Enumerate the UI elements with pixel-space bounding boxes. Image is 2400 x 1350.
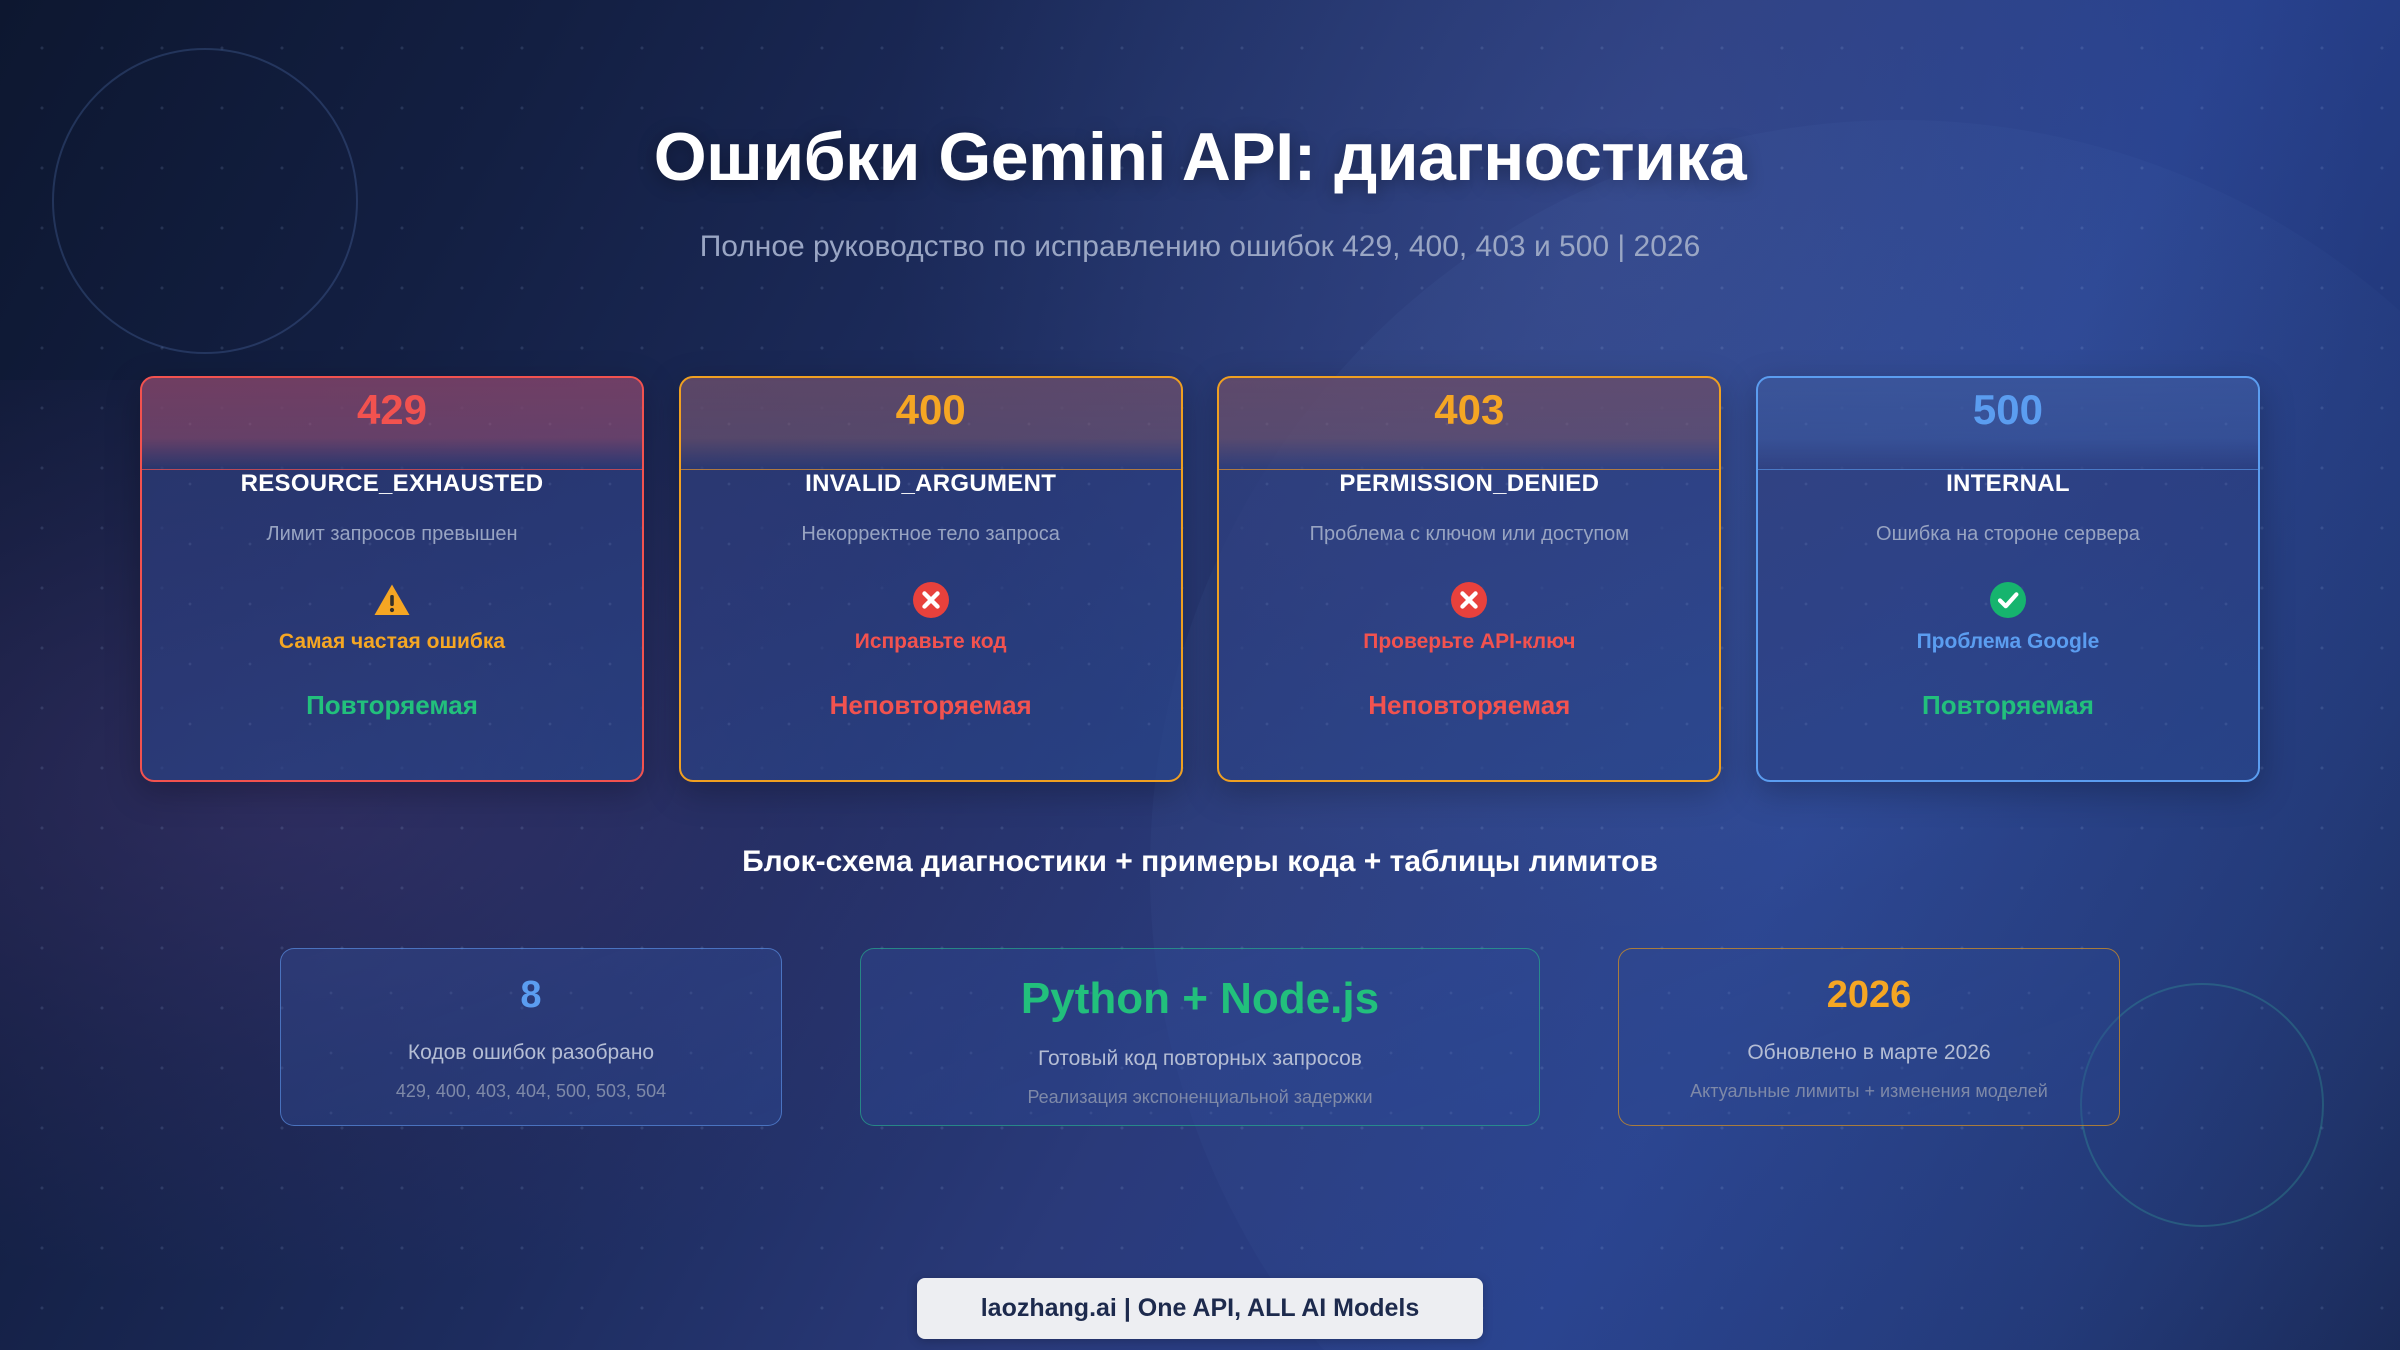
error-code: 500 [1973,389,2043,431]
error-retryable: Повторяемая [1758,690,2258,721]
stat-box-row: 8 Кодов ошибок разобрано 429, 400, 403, … [280,948,2120,1126]
error-hint: Самая частая ошибка [142,630,642,654]
stat-box-languages[interactable]: Python + Node.js Готовый код повторных з… [860,948,1540,1126]
error-code: 403 [1434,389,1504,431]
error-code: 400 [896,389,966,431]
stat-box-updated[interactable]: 2026 Обновлено в марте 2026 Актуальные л… [1618,948,2120,1126]
stat-label: Готовый код повторных запросов [861,1047,1539,1071]
tagline: Блок-схема диагностики + примеры кода + … [0,845,2400,879]
warning-triangle-icon [142,580,642,620]
stat-box-error-codes[interactable]: 8 Кодов ошибок разобрано 429, 400, 403, … [280,948,782,1126]
error-description: Лимит запросов превышен [142,523,642,546]
error-card-500[interactable]: 500 INTERNAL Ошибка на стороне сервера П… [1756,376,2260,782]
error-x-circle-icon [1219,580,1719,620]
page-subtitle: Полное руководство по исправлению ошибок… [0,230,2400,264]
error-description: Ошибка на стороне сервера [1758,523,2258,546]
error-card-403[interactable]: 403 PERMISSION_DENIED Проблема с ключом … [1217,376,1721,782]
brand-badge[interactable]: laozhang.ai | One API, ALL AI Models [917,1278,1484,1339]
stat-value: 8 [281,975,781,1017]
error-name: INVALID_ARGUMENT [681,470,1181,498]
error-hint: Проблема Google [1758,630,2258,654]
error-retryable: Повторяемая [142,690,642,721]
stat-sublabel: Актуальные лимиты + изменения моделей [1619,1081,2119,1102]
error-x-circle-icon [681,580,1181,620]
infographic-canvas: Ошибки Gemini API: диагностика Полное ру… [0,0,2400,1350]
footer: laozhang.ai | One API, ALL AI Models [0,1278,2400,1339]
error-name: PERMISSION_DENIED [1219,470,1719,498]
stat-sublabel: Реализация экспоненциальной задержки [861,1087,1539,1108]
error-retryable: Неповторяемая [681,690,1181,721]
header: Ошибки Gemini API: диагностика Полное ру… [0,118,2400,264]
card-body: RESOURCE_EXHAUSTED Лимит запросов превыш… [142,442,642,721]
page-title: Ошибки Gemini API: диагностика [0,118,2400,196]
error-card-row: 429 RESOURCE_EXHAUSTED Лимит запросов пр… [140,376,2260,782]
card-body: INTERNAL Ошибка на стороне сервера Пробл… [1758,442,2258,721]
card-header: 429 [142,378,642,442]
stat-label: Обновлено в марте 2026 [1619,1041,2119,1065]
stat-label: Кодов ошибок разобрано [281,1041,781,1065]
card-header: 400 [681,378,1181,442]
card-header: 500 [1758,378,2258,442]
error-description: Некорректное тело запроса [681,523,1181,546]
error-hint: Исправьте код [681,630,1181,654]
error-name: INTERNAL [1758,470,2258,498]
stat-sublabel: 429, 400, 403, 404, 500, 503, 504 [281,1081,781,1102]
error-hint: Проверьте API-ключ [1219,630,1719,654]
error-description: Проблема с ключом или доступом [1219,523,1719,546]
success-check-circle-icon [1758,580,2258,620]
stat-value: Python + Node.js [861,975,1539,1023]
error-retryable: Неповторяемая [1219,690,1719,721]
card-header: 403 [1219,378,1719,442]
error-name: RESOURCE_EXHAUSTED [142,470,642,498]
error-card-429[interactable]: 429 RESOURCE_EXHAUSTED Лимит запросов пр… [140,376,644,782]
card-body: PERMISSION_DENIED Проблема с ключом или … [1219,442,1719,721]
error-card-400[interactable]: 400 INVALID_ARGUMENT Некорректное тело з… [679,376,1183,782]
card-body: INVALID_ARGUMENT Некорректное тело запро… [681,442,1181,721]
stat-value: 2026 [1619,975,2119,1017]
error-code: 429 [357,389,427,431]
